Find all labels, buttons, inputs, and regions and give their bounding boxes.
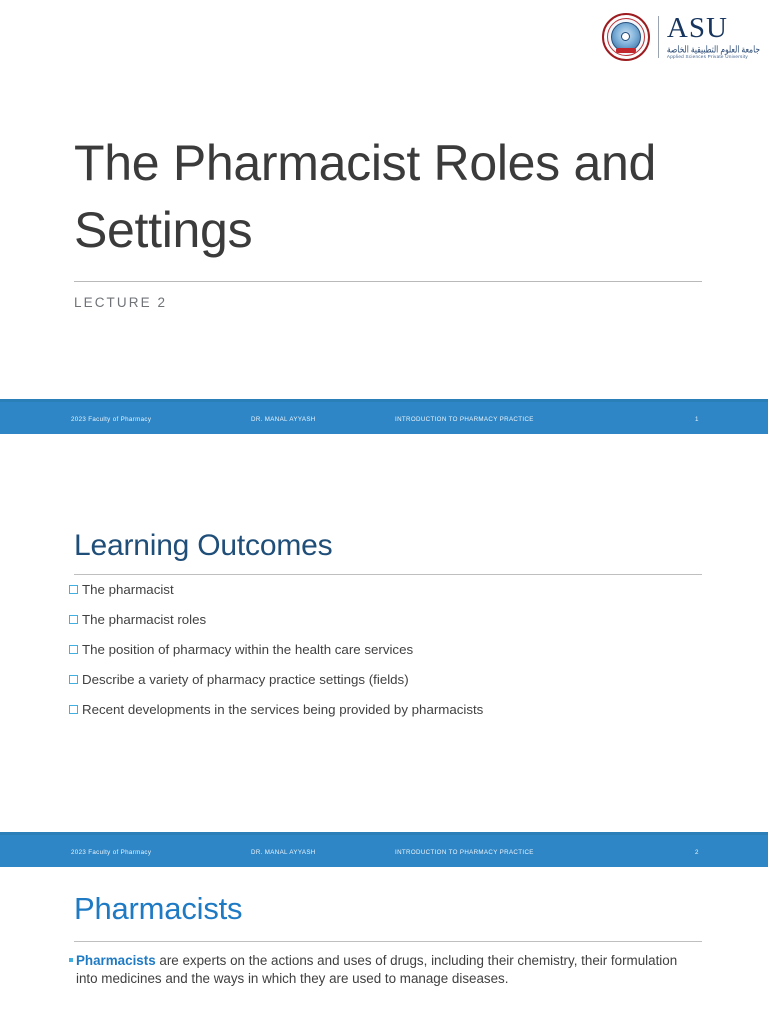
checkbox-square-icon (69, 585, 78, 594)
heading-divider (74, 941, 702, 942)
page-title: The Pharmacist Roles and Settings (74, 130, 702, 263)
footer-page-number: 1 (695, 402, 699, 437)
learning-outcomes-list: The pharmacist The pharmacist roles The … (69, 582, 709, 733)
slide-heading: Learning Outcomes (74, 529, 332, 563)
list-item-label: The position of pharmacy within the heal… (82, 642, 413, 659)
paragraph-rest: are experts on the actions and uses of d… (76, 953, 677, 986)
logo-wordmark: ASU جامعة العلوم التطبيقية الخاصة Applie… (667, 14, 760, 60)
checkbox-square-icon (69, 675, 78, 684)
logo-divider (658, 16, 659, 58)
footer-page-number: 2 (695, 835, 699, 870)
logo-name-arabic: جامعة العلوم التطبيقية الخاصة (667, 45, 760, 54)
slide-footer-1: 2023 Faculty of Pharmacy DR. MANAL AYYAS… (0, 399, 768, 434)
footer-course: INTRODUCTION TO PHARMACY PRACTICE (395, 402, 534, 437)
slide-heading: Pharmacists (74, 891, 242, 927)
slide-footer-2: 2023 Faculty of Pharmacy DR. MANAL AYYAS… (0, 832, 768, 867)
list-item-label: Recent developments in the services bein… (82, 702, 483, 719)
title-divider (74, 281, 702, 282)
footer-author: DR. MANAL AYYASH (251, 402, 316, 437)
list-item: The pharmacist (69, 582, 709, 599)
square-bullet-icon (69, 958, 73, 962)
footer-org: 2023 Faculty of Pharmacy (71, 402, 151, 437)
list-item: Describe a variety of pharmacy practice … (69, 672, 709, 689)
lecture-subtitle: LECTURE 2 (74, 295, 702, 310)
slide-deck: ASU جامعة العلوم التطبيقية الخاصة Applie… (0, 0, 768, 1024)
title-block: The Pharmacist Roles and Settings LECTUR… (74, 130, 702, 310)
pharmacists-paragraph: Pharmacists are experts on the actions a… (69, 952, 689, 988)
slide-pharmacists: Pharmacists Pharmacists are experts on t… (0, 867, 768, 1024)
list-item-label: Describe a variety of pharmacy practice … (82, 672, 409, 689)
logo-name-english: Applied Sciences Private University (667, 55, 760, 60)
slide-title: ASU جامعة العلوم التطبيقية الخاصة Applie… (0, 0, 768, 399)
list-item-label: The pharmacist roles (82, 612, 206, 629)
checkbox-square-icon (69, 615, 78, 624)
footer-author: DR. MANAL AYYASH (251, 835, 316, 870)
slide-learning-outcomes: Learning Outcomes The pharmacist The pha… (0, 434, 768, 832)
checkbox-square-icon (69, 645, 78, 654)
list-item: The pharmacist roles (69, 612, 709, 629)
list-item: Recent developments in the services bein… (69, 702, 709, 719)
paragraph-lead: Pharmacists (76, 953, 156, 968)
list-item-label: The pharmacist (82, 582, 174, 599)
asu-seal-icon (601, 12, 651, 62)
footer-org: 2023 Faculty of Pharmacy (71, 835, 151, 870)
list-item: The position of pharmacy within the heal… (69, 642, 709, 659)
logo-acronym: ASU (667, 14, 760, 43)
paragraph-text: Pharmacists are experts on the actions a… (76, 952, 689, 988)
asu-logo: ASU جامعة العلوم التطبيقية الخاصة Applie… (601, 9, 760, 65)
heading-divider (74, 574, 702, 575)
footer-course: INTRODUCTION TO PHARMACY PRACTICE (395, 835, 534, 870)
checkbox-square-icon (69, 705, 78, 714)
